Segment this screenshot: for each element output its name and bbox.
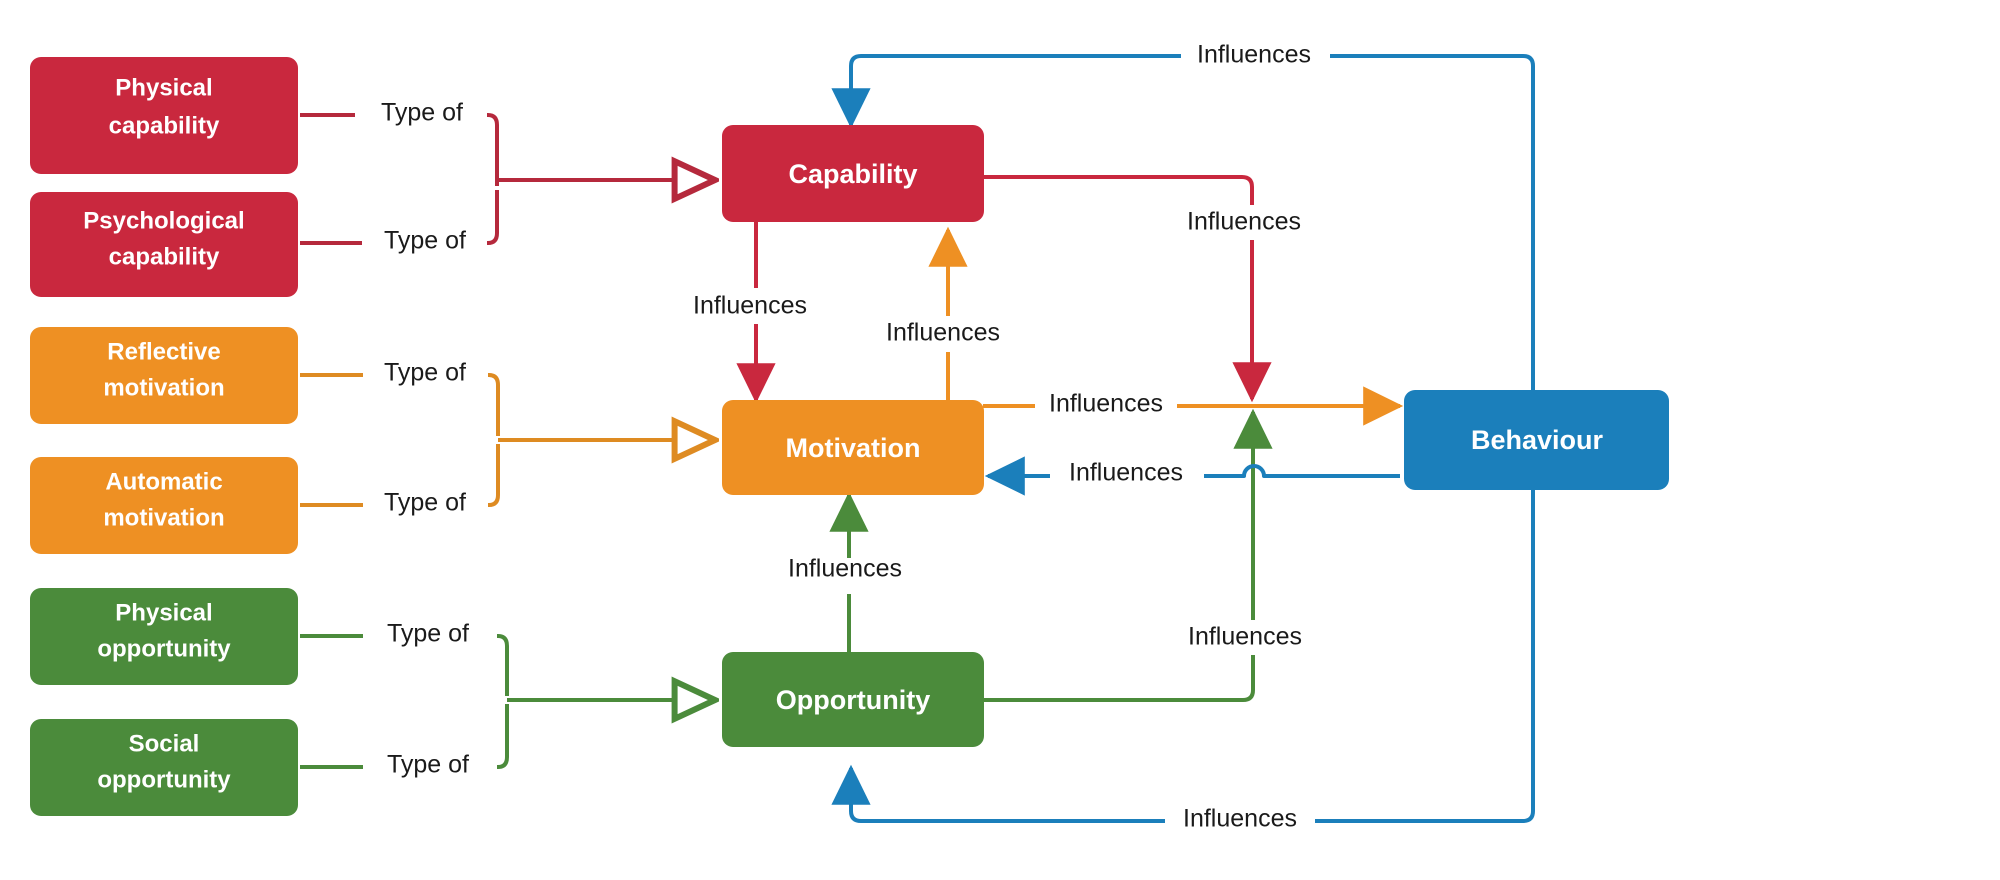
node-physical-opportunity[interactable]: Physical opportunity [30, 588, 298, 685]
node-label-line1: Psychological [83, 207, 244, 234]
node-capability[interactable]: Capability [722, 125, 984, 222]
edge-line [487, 115, 497, 186]
edge-label: Influences [1183, 805, 1297, 833]
node-label: Capability [788, 159, 917, 189]
node-social-opportunity[interactable]: Social opportunity [30, 719, 298, 816]
node-label: Behaviour [1471, 425, 1604, 455]
edge-label: Type of [387, 620, 469, 648]
edge-label: Type of [381, 99, 463, 127]
edge-label: Type of [387, 751, 469, 779]
edge-line [488, 444, 498, 505]
edge-label: Influences [693, 292, 807, 320]
node-label-line2: capability [109, 112, 220, 139]
node-label-line2: motivation [103, 374, 224, 401]
edge-motivation-to-behaviour: Influences [983, 390, 1400, 418]
node-automatic-motivation[interactable]: Automatic motivation [30, 457, 298, 554]
edge-opportunity-to-motivation: Influences [788, 495, 902, 672]
edge-physical-capability-to-capability: Type of [300, 99, 497, 186]
node-opportunity[interactable]: Opportunity [722, 652, 984, 747]
edge-line [1315, 490, 1533, 821]
edge-capability-to-motivation: Influences [693, 222, 807, 400]
edge-psychological-capability-to-capability: Type of [300, 190, 497, 255]
edge-line [487, 190, 497, 243]
edge-reflective-motivation-to-motivation: Type of [300, 359, 498, 436]
node-label: Opportunity [776, 685, 930, 715]
node-label-line2: motivation [103, 504, 224, 531]
node-motivation[interactable]: Motivation [722, 400, 984, 495]
edge-line [1330, 56, 1533, 390]
node-physical-capability[interactable]: Physical capability [30, 57, 298, 174]
node-label-line2: opportunity [97, 635, 231, 662]
edge-label: Influences [1188, 623, 1302, 651]
edge-line [497, 636, 507, 696]
edge-label: Type of [384, 489, 466, 517]
edge-line [1204, 466, 1400, 476]
edge-label: Influences [1187, 208, 1301, 236]
edge-line [983, 655, 1253, 700]
edge-line [851, 56, 1181, 125]
node-label-line1: Social [129, 730, 200, 757]
edge-line [983, 177, 1252, 205]
edge-label: Influences [1069, 459, 1183, 487]
edge-automatic-motivation-to-motivation: Type of [300, 444, 498, 517]
edge-social-opportunity-to-opportunity: Type of [300, 704, 507, 779]
node-label-line1: Physical [115, 74, 212, 101]
node-label: Motivation [786, 433, 921, 463]
edge-label: Influences [788, 555, 902, 583]
edge-label: Type of [384, 227, 466, 255]
node-label-line2: capability [109, 243, 220, 270]
edge-line [488, 375, 498, 436]
edge-line [497, 704, 507, 767]
edge-line [851, 768, 1165, 821]
edge-label: Influences [886, 319, 1000, 347]
node-reflective-motivation[interactable]: Reflective motivation [30, 327, 298, 424]
diagram-canvas: Type of Type of Type of Type of Type of … [0, 0, 2000, 880]
edge-label: Type of [384, 359, 466, 387]
edge-opportunity-to-behaviour: Influences [983, 412, 1302, 700]
node-label-line1: Physical [115, 599, 212, 626]
node-label-line2: opportunity [97, 766, 231, 793]
node-label-line1: Automatic [105, 468, 222, 495]
edge-label: Influences [1049, 390, 1163, 418]
node-psychological-capability[interactable]: Psychological capability [30, 192, 298, 297]
edge-physical-opportunity-to-opportunity: Type of [300, 620, 507, 696]
node-label-line1: Reflective [107, 338, 220, 365]
edge-motivation-to-capability: Influences [886, 230, 1000, 405]
edge-behaviour-to-motivation: Influences [988, 459, 1400, 487]
node-behaviour[interactable]: Behaviour [1404, 390, 1669, 490]
edge-capability-to-behaviour: Influences [983, 177, 1301, 399]
com-b-diagram: Type of Type of Type of Type of Type of … [0, 0, 2000, 880]
edge-label: Influences [1197, 41, 1311, 69]
